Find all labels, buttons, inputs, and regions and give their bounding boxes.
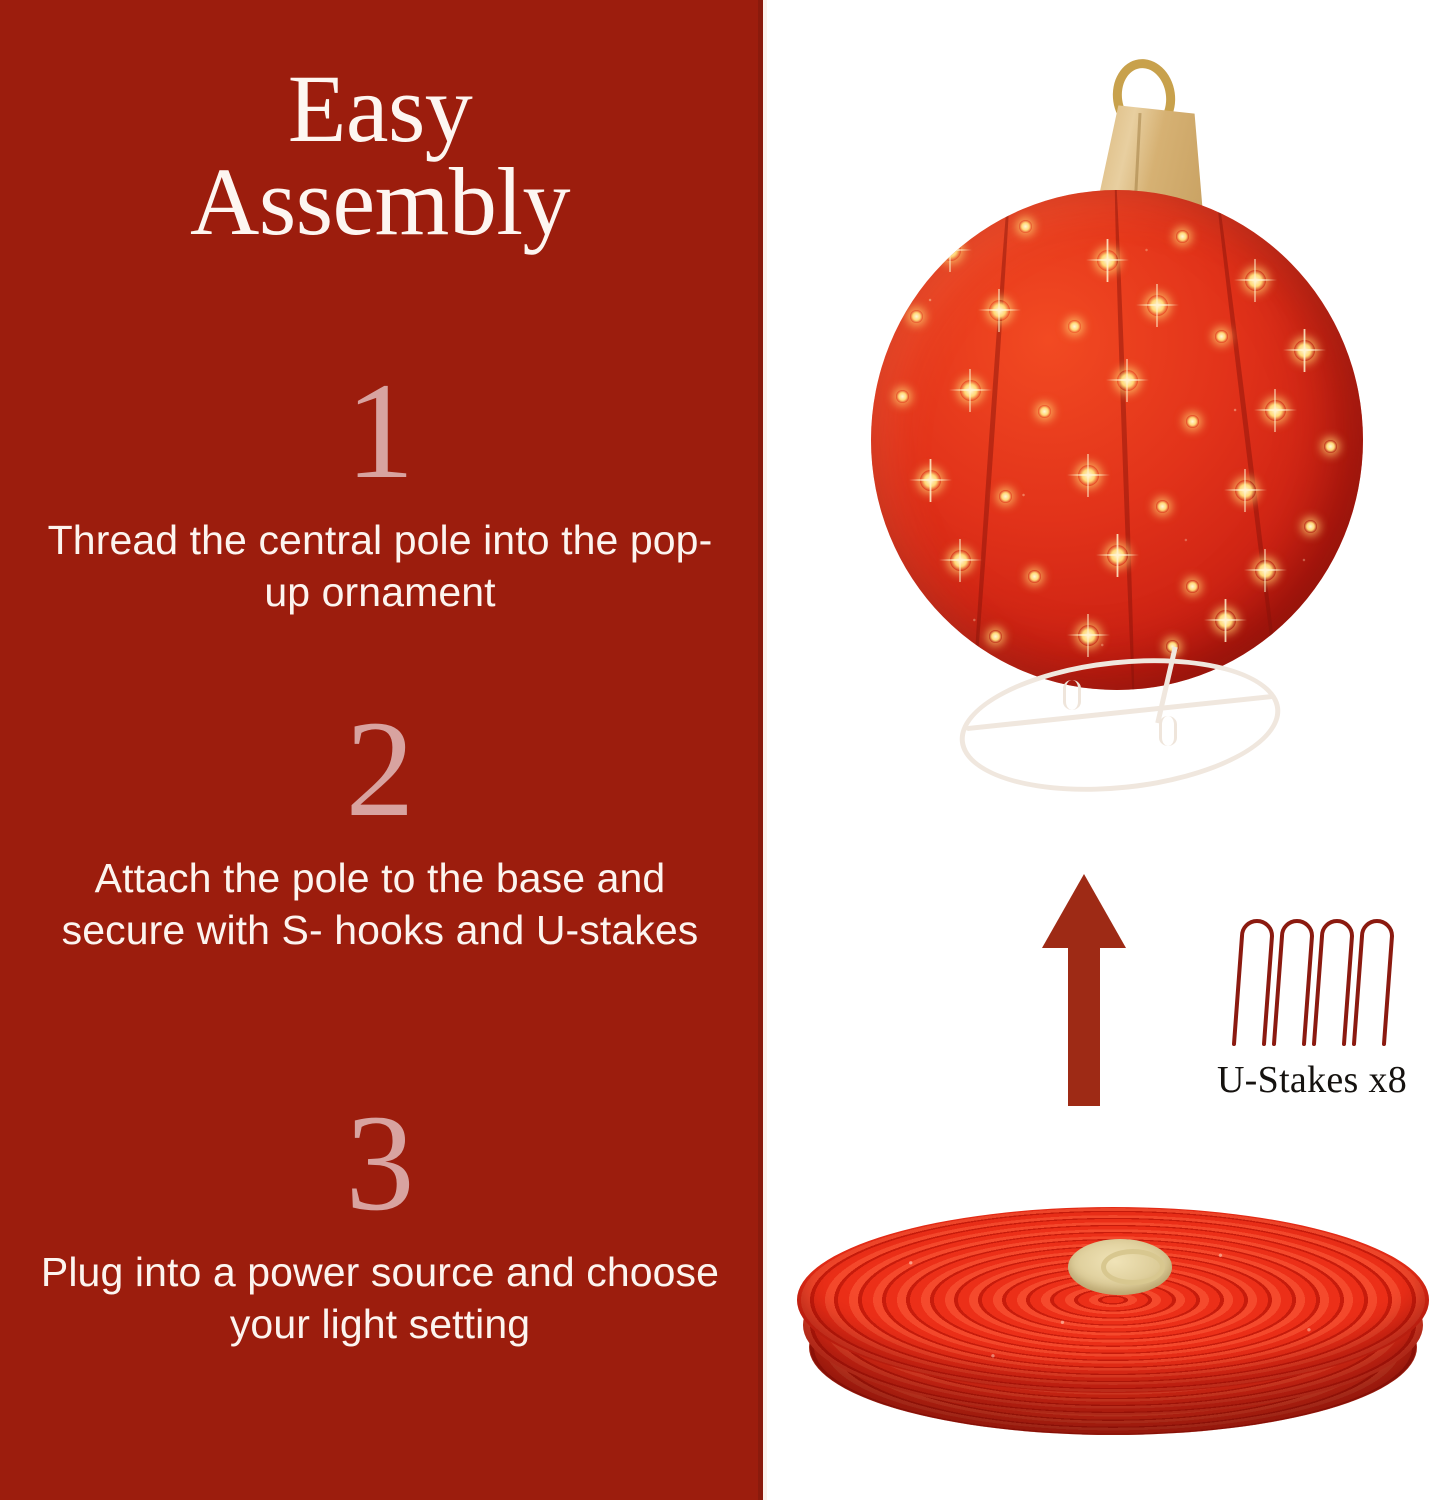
led-light bbox=[960, 380, 981, 401]
led-light bbox=[989, 300, 1010, 321]
led-light bbox=[950, 550, 971, 571]
step-text-1: Thread the central pole into the pop-up … bbox=[40, 514, 720, 619]
led-light bbox=[1235, 480, 1256, 501]
easy-assembly-infographic: Easy Assembly 1 Thread the central pole … bbox=[0, 0, 1445, 1500]
led-light bbox=[1294, 340, 1315, 361]
led-light bbox=[940, 240, 961, 261]
title-line-1: Easy bbox=[288, 55, 473, 162]
led-light bbox=[1019, 220, 1032, 233]
step-number-2: 2 bbox=[40, 700, 720, 838]
led-light bbox=[1176, 230, 1189, 243]
led-light bbox=[1068, 320, 1081, 333]
page-title: Easy Assembly bbox=[40, 62, 720, 248]
arrow-head bbox=[1042, 874, 1126, 948]
led-light bbox=[1038, 405, 1051, 418]
s-hook-icon bbox=[1159, 716, 1177, 746]
led-light bbox=[896, 390, 909, 403]
ornament-sphere bbox=[871, 190, 1363, 690]
led-light bbox=[1156, 500, 1169, 513]
led-light bbox=[1078, 465, 1099, 486]
led-light bbox=[1255, 560, 1276, 581]
u-stakes-icon bbox=[1212, 900, 1412, 1050]
led-light bbox=[999, 490, 1012, 503]
product-image-panel: U-Stakes x8 bbox=[767, 0, 1445, 1500]
ornament-seam bbox=[1112, 190, 1136, 690]
led-light bbox=[1186, 580, 1199, 593]
step-number-3: 3 bbox=[40, 1094, 720, 1232]
s-hook-icon bbox=[1063, 680, 1081, 710]
disc-center-cap-ring bbox=[1101, 1249, 1165, 1285]
assembled-ornament-image bbox=[847, 55, 1387, 835]
instructions-panel: Easy Assembly 1 Thread the central pole … bbox=[0, 0, 758, 1500]
title-line-2: Assembly bbox=[40, 155, 720, 248]
led-light bbox=[1107, 545, 1128, 566]
ornament-stand bbox=[959, 660, 1281, 790]
collapsed-ornament-image bbox=[785, 1185, 1435, 1480]
assembly-step-3: 3 Plug into a power source and choose yo… bbox=[40, 1094, 720, 1351]
led-light bbox=[1117, 370, 1138, 391]
led-light bbox=[1304, 520, 1317, 533]
ornament-seam bbox=[970, 190, 1013, 690]
step-text-3: Plug into a power source and choose your… bbox=[40, 1246, 720, 1351]
led-light bbox=[1245, 270, 1266, 291]
led-light bbox=[1147, 295, 1168, 316]
led-light bbox=[1215, 330, 1228, 343]
led-light bbox=[1186, 415, 1199, 428]
led-light bbox=[1097, 250, 1118, 271]
led-light bbox=[1215, 610, 1236, 631]
assembly-step-1: 1 Thread the central pole into the pop-u… bbox=[40, 362, 720, 619]
step-text-2: Attach the pole to the base and secure w… bbox=[40, 852, 720, 957]
u-stakes-group: U-Stakes x8 bbox=[1197, 900, 1427, 1102]
led-light bbox=[1265, 400, 1286, 421]
led-light bbox=[910, 310, 923, 323]
up-arrow-icon bbox=[1042, 874, 1126, 1106]
led-light bbox=[1078, 625, 1099, 646]
led-light bbox=[1028, 570, 1041, 583]
arrow-shaft bbox=[1068, 946, 1100, 1106]
disc-glitter-overlay bbox=[797, 1207, 1429, 1393]
led-light bbox=[920, 470, 941, 491]
u-stakes-label: U-Stakes x8 bbox=[1197, 1058, 1427, 1102]
assembly-step-2: 2 Attach the pole to the base and secure… bbox=[40, 700, 720, 957]
step-number-1: 1 bbox=[40, 362, 720, 500]
led-light bbox=[1324, 440, 1337, 453]
led-light bbox=[989, 630, 1002, 643]
ornament-seam bbox=[1212, 190, 1283, 690]
